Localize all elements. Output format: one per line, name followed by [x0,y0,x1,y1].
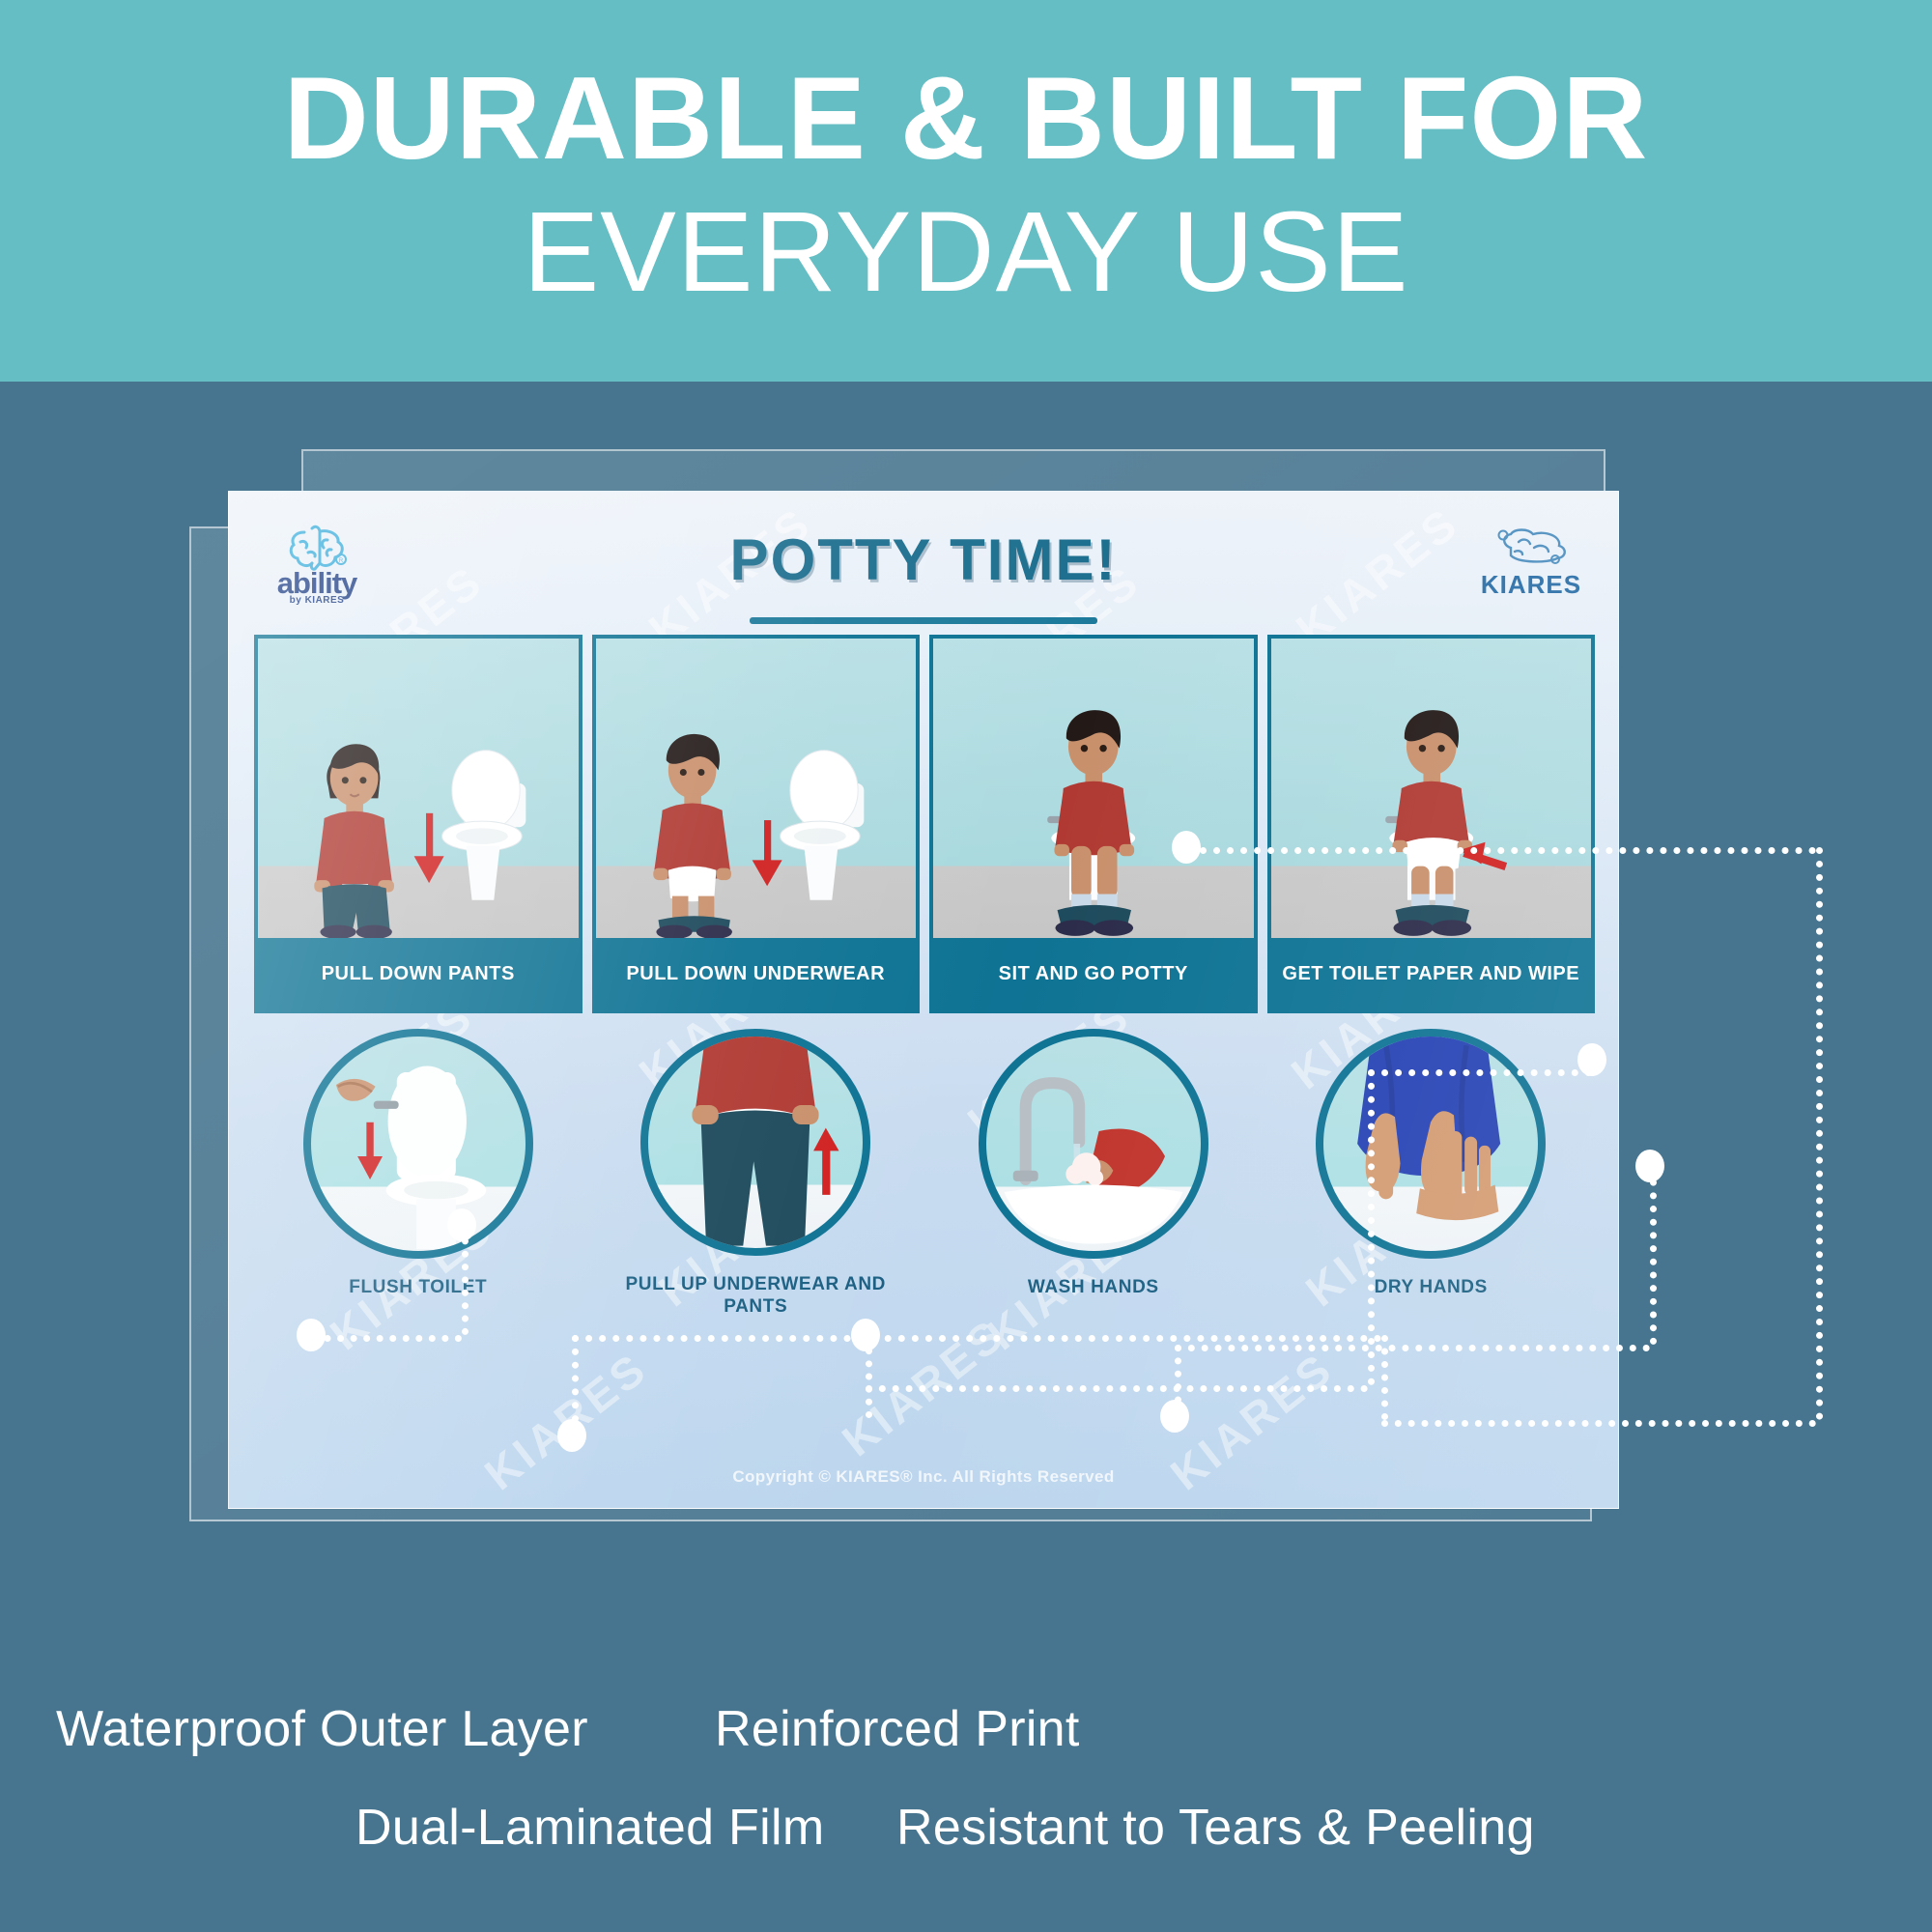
feature-label-tears-peeling: Resistant to Tears & Peeling [896,1799,1535,1857]
hands-with-blue-towel-art [1323,1037,1538,1251]
headline-line-2: EVERYDAY USE [523,190,1408,316]
steps-row-bottom: FLUSH TOILET PULL UP [254,1029,1595,1319]
hands-under-faucet-with-soap-art [986,1037,1201,1251]
child-pulling-up-pants-art [648,1037,863,1248]
child-sitting-on-toilet-art [933,639,1254,938]
step-card-2[interactable]: PULL DOWN UNDERWEAR [592,635,921,1013]
step-7-illustration [979,1029,1208,1259]
poster-title: POTTY TIME! [229,526,1618,593]
kiares-logo: KIARES [1469,526,1593,600]
step-1-illustration [258,639,579,938]
step-card-3[interactable]: SIT AND GO POTTY [929,635,1258,1013]
headline-line-1: DURABLE & BUILT FOR [284,58,1649,178]
poster-title-underline [750,617,1097,624]
step-cell-5[interactable]: FLUSH TOILET [254,1029,582,1319]
kiares-logo-wordmark: KIARES [1469,570,1593,600]
headline-banner: DURABLE & BUILT FOR EVERYDAY USE [0,0,1932,382]
step-cell-6[interactable]: PULL UP UNDERWEAR AND PANTS [592,1029,921,1319]
step-3-label: SIT AND GO POTTY [933,938,1254,1009]
step-6-label: PULL UP UNDERWEAR AND PANTS [592,1273,921,1320]
step-3-illustration [933,639,1254,938]
poster-header: R ability by KIARES POTTY TIME! [229,513,1618,629]
feature-label-reinforced: Reinforced Print [715,1700,1080,1758]
feature-label-waterproof: Waterproof Outer Layer [56,1700,588,1758]
poster-copyright: Copyright © KIARES® Inc. All Rights Rese… [229,1467,1618,1487]
step-5-illustration [303,1029,533,1259]
step-cell-7[interactable]: WASH HANDS [929,1029,1258,1319]
step-1-label: PULL DOWN PANTS [258,938,579,1009]
step-cell-8[interactable]: DRY HANDS [1267,1029,1596,1319]
step-7-label: WASH HANDS [1028,1276,1159,1299]
step-card-4[interactable]: GET TOILET PAPER AND WIPE [1267,635,1596,1013]
step-2-label: PULL DOWN UNDERWEAR [596,938,917,1009]
child-standing-pants-down-toilet-art [258,639,579,938]
step-card-1[interactable]: PULL DOWN PANTS [254,635,582,1013]
step-8-label: DRY HANDS [1375,1276,1488,1299]
child-sitting-wiping-art [1271,639,1592,938]
potty-time-poster[interactable]: KIARES KIARES KIARES KIARES KIARES KIARE… [228,491,1619,1509]
step-8-illustration [1316,1029,1546,1259]
step-6-illustration [640,1029,870,1256]
step-5-label: FLUSH TOILET [349,1276,487,1299]
step-4-illustration [1271,639,1592,938]
step-4-label: GET TOILET PAPER AND WIPE [1271,938,1592,1009]
child-standing-underwear-down-toilet-art [596,639,917,938]
step-2-illustration [596,639,917,938]
hand-pressing-flush-handle-art [311,1037,526,1251]
kiares-cloud-icon [1490,526,1573,567]
steps-row-top: PULL DOWN PANTS [254,635,1595,1013]
feature-label-dual-laminated: Dual-Laminated Film [355,1799,824,1857]
